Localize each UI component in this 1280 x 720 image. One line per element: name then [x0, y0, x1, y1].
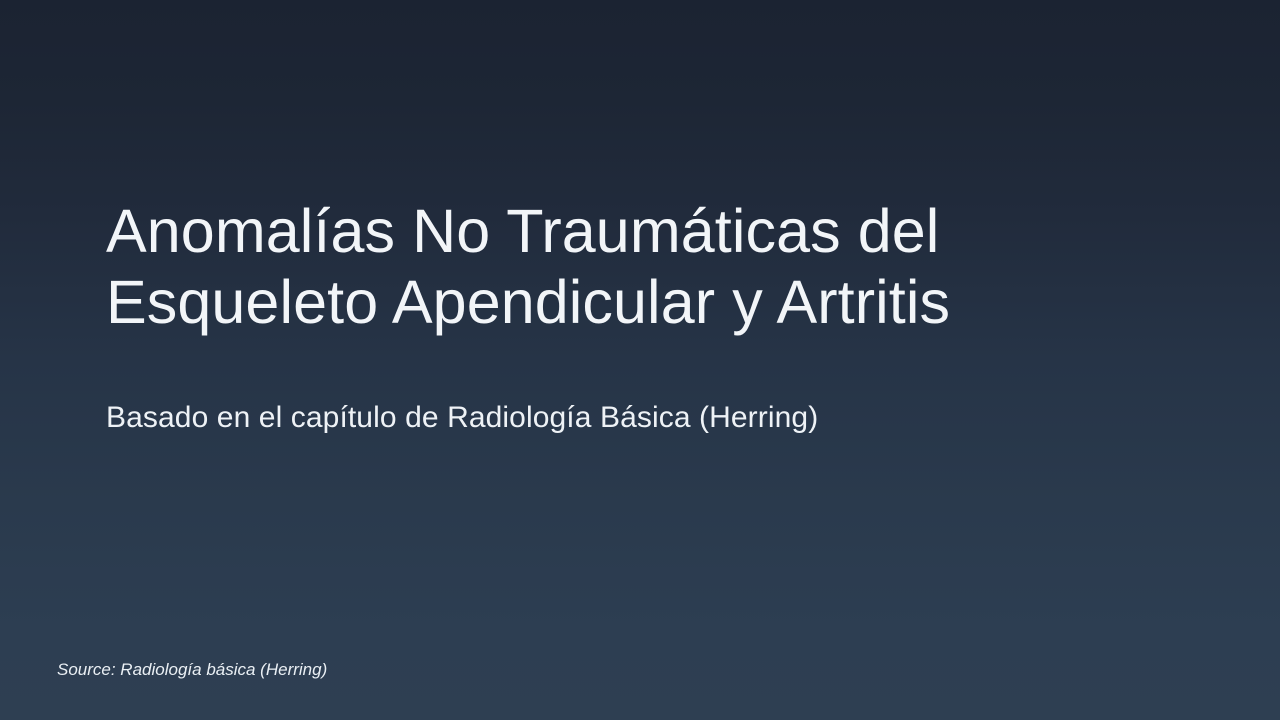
page-title: Anomalías No Traumáticas del Esqueleto A…	[106, 196, 1106, 338]
slide-text-block: Anomalías No Traumáticas del Esqueleto A…	[106, 196, 1106, 338]
source-attribution: Source: Radiología básica (Herring)	[57, 658, 327, 682]
title-slide: Anomalías No Traumáticas del Esqueleto A…	[0, 0, 1280, 720]
slide-subtitle: Basado en el capítulo de Radiología Bási…	[106, 398, 818, 438]
